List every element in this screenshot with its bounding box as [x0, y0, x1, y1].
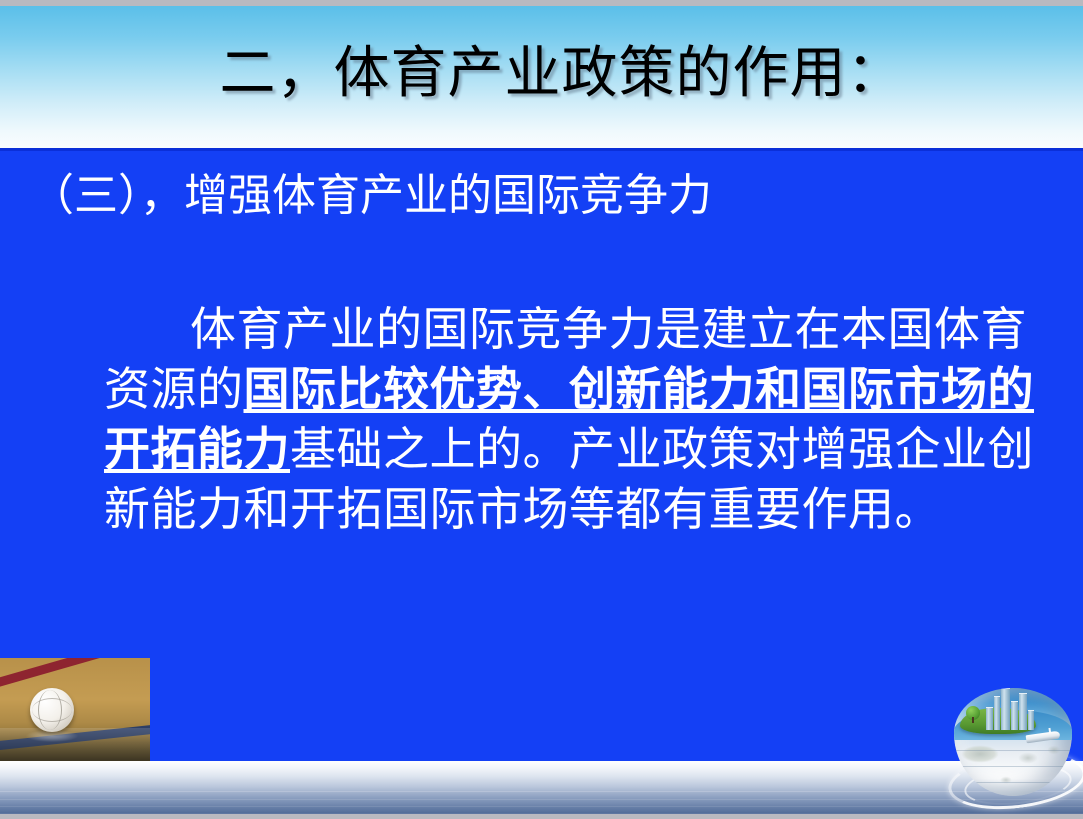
water-ripple: [0, 799, 1083, 800]
city-skyline-icon: [984, 688, 1036, 730]
slide-title: 二，体育产业政策的作用：: [0, 42, 1083, 106]
skyscraper: [1028, 710, 1034, 730]
presentation-slide: 二，体育产业政策的作用： （三），增强体育产业的国际竞争力 体育产业的国际竞争力…: [0, 0, 1083, 819]
water-ripple: [0, 806, 1083, 807]
skyscraper: [1011, 701, 1018, 730]
water-ripple: [0, 791, 1083, 792]
slide-body: （三），增强体育产业的国际竞争力 体育产业的国际竞争力是建立在本国体育资源的国际…: [0, 151, 1083, 761]
slide-header-band: 二，体育产业政策的作用：: [0, 6, 1083, 148]
volleyball-photo: [0, 658, 150, 762]
globe-latitude-line: [954, 750, 1072, 751]
slide-paragraph: 体育产业的国际竞争力是建立在本国体育资源的国际比较优势、创新能力和国际市场的开拓…: [104, 299, 1034, 539]
skyscraper: [986, 707, 993, 730]
globe-sphere: [954, 688, 1072, 796]
volleyball-icon: [30, 688, 74, 732]
skyscraper: [1001, 688, 1010, 730]
skyscraper: [994, 696, 1000, 730]
tree-icon: [966, 706, 980, 720]
globe-latitude-line: [954, 766, 1072, 767]
ship-icon: [1026, 728, 1060, 741]
globe-latitude-line: [954, 782, 1072, 783]
water-strip: [0, 761, 1083, 819]
slide-subtitle: （三），增强体育产业的国际竞争力: [30, 169, 1030, 223]
globe-graphic: [954, 666, 1076, 800]
water-ripple: [0, 813, 1083, 814]
skyscraper: [1019, 693, 1027, 730]
